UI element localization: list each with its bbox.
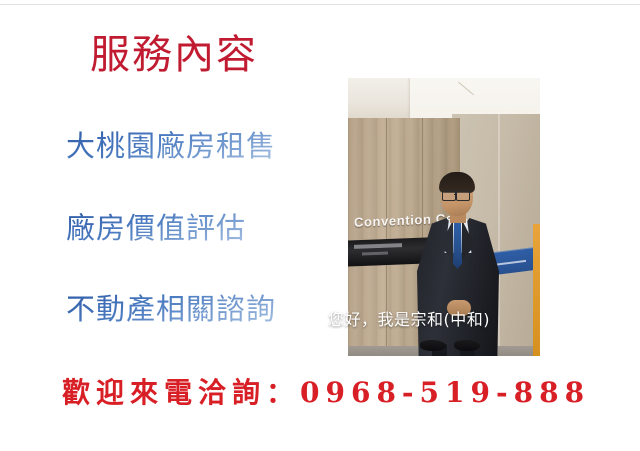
person-glasses-bridge bbox=[454, 194, 457, 195]
contact-phone-line: 歡迎來電洽詢：0968-519-888 bbox=[62, 371, 590, 411]
photo-caption: 您好，我是宗和(中和) bbox=[328, 306, 490, 330]
service-item-2: 不動產相關諮詢 bbox=[66, 293, 276, 326]
service-item-0: 大桃園廠房租售 bbox=[66, 130, 276, 163]
person-shoe-right bbox=[454, 340, 480, 351]
person-glasses-left-lens bbox=[442, 191, 456, 201]
photo-orange-strip bbox=[533, 224, 540, 356]
page-title: 服務內容 bbox=[90, 32, 258, 78]
person-glasses-right-lens bbox=[456, 191, 470, 201]
service-item-1: 廠房價值評估 bbox=[66, 212, 246, 245]
slide-canvas: 服務內容 大桃園廠房租售 廠房價值評估 不動產相關諮詢 歡迎來電洽詢：0968-… bbox=[0, 0, 640, 451]
person-necktie bbox=[453, 223, 462, 269]
person-shoe-left bbox=[420, 340, 446, 351]
top-divider-rule bbox=[0, 4, 640, 5]
person-hair bbox=[439, 172, 475, 193]
photo-wall-corner bbox=[498, 114, 500, 356]
